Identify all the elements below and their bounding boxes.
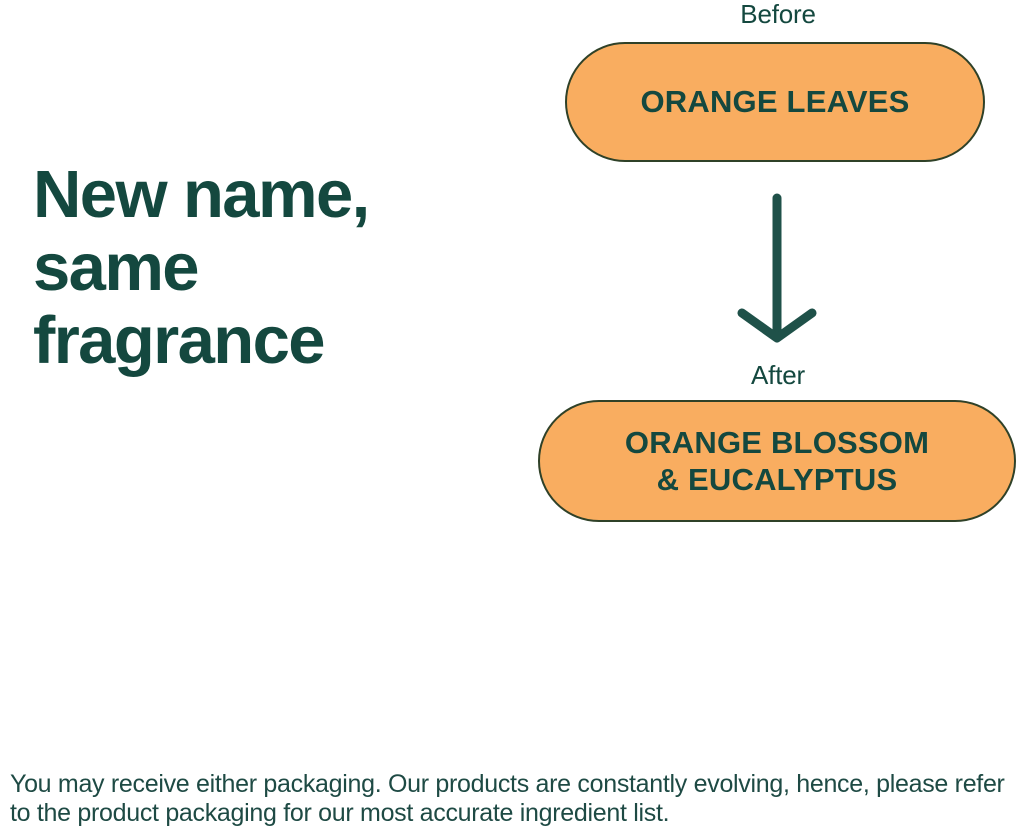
before-product-pill: ORANGE LEAVES <box>565 42 985 162</box>
down-arrow-icon <box>700 180 860 355</box>
disclaimer-text: You may receive either packaging. Our pr… <box>10 770 1020 828</box>
before-after-diagram: Before ORANGE LEAVES After ORANGE BLOSSO… <box>0 0 1024 560</box>
after-product-pill: ORANGE BLOSSOM & EUCALYPTUS <box>538 400 1016 522</box>
after-product-name: ORANGE BLOSSOM & EUCALYPTUS <box>625 424 929 498</box>
before-product-name: ORANGE LEAVES <box>640 84 909 120</box>
before-label: Before <box>628 0 928 29</box>
after-label: After <box>628 360 928 390</box>
